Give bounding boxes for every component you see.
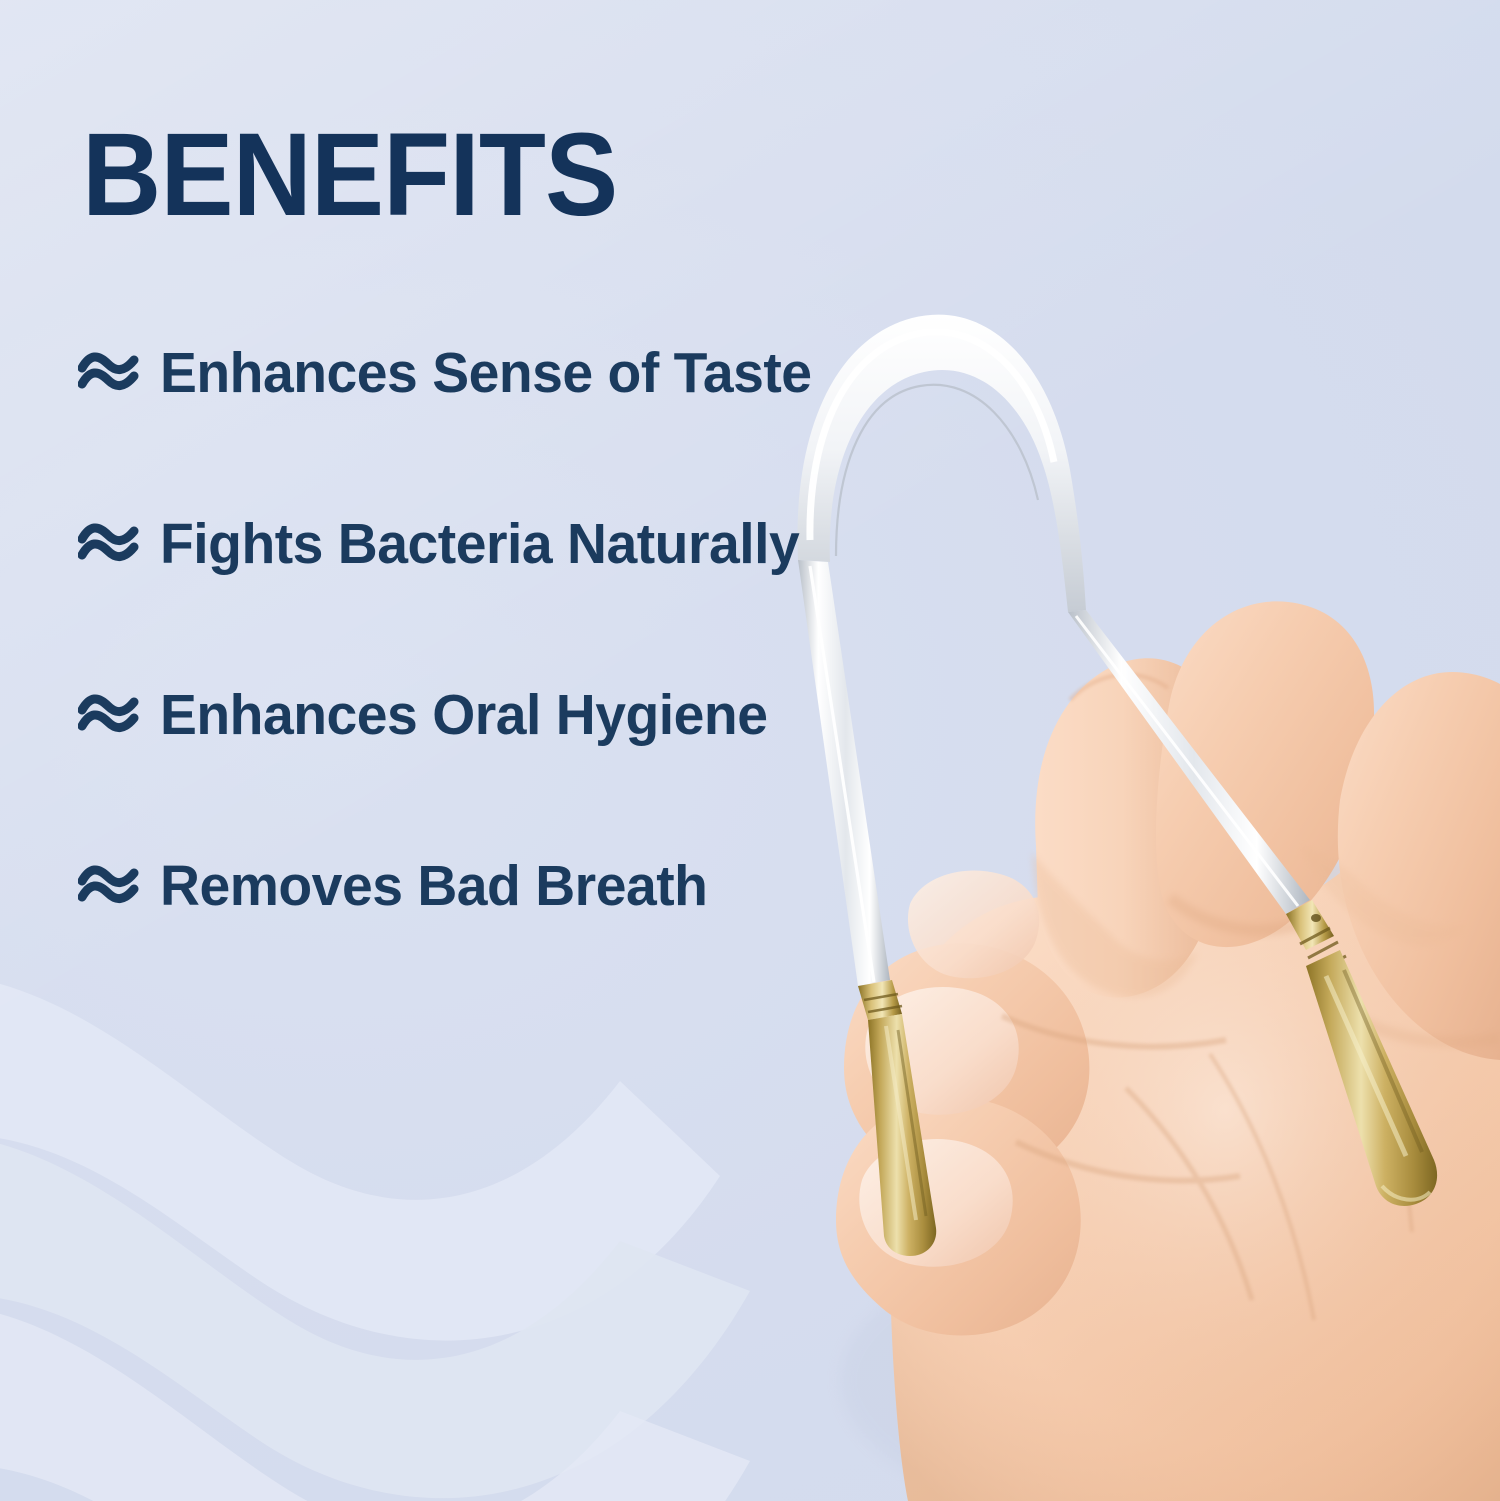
benefit-item-2: Fights Bacteria Naturally	[78, 501, 1018, 587]
benefit-item-4: Removes Bad Breath	[78, 843, 1018, 929]
benefit-label: Removes Bad Breath	[160, 858, 707, 915]
benefit-item-1: Enhances Sense of Taste	[78, 330, 1018, 416]
benefit-label: Enhances Oral Hygiene	[160, 687, 767, 744]
wave-bullet-icon	[78, 692, 142, 738]
benefit-label: Fights Bacteria Naturally	[160, 516, 799, 573]
benefit-label: Enhances Sense of Taste	[160, 345, 812, 402]
wave-bullet-icon	[78, 521, 142, 567]
wave-bullet-icon	[78, 863, 142, 909]
wave-bullet-icon	[78, 350, 142, 396]
benefit-item-3: Enhances Oral Hygiene	[78, 672, 1018, 758]
benefits-product-card: BENEFITS Enhances Sense of Taste Fights …	[0, 0, 1500, 1501]
benefits-list: Enhances Sense of Taste Fights Bacteria …	[78, 330, 1018, 929]
page-title: BENEFITS	[82, 116, 617, 234]
